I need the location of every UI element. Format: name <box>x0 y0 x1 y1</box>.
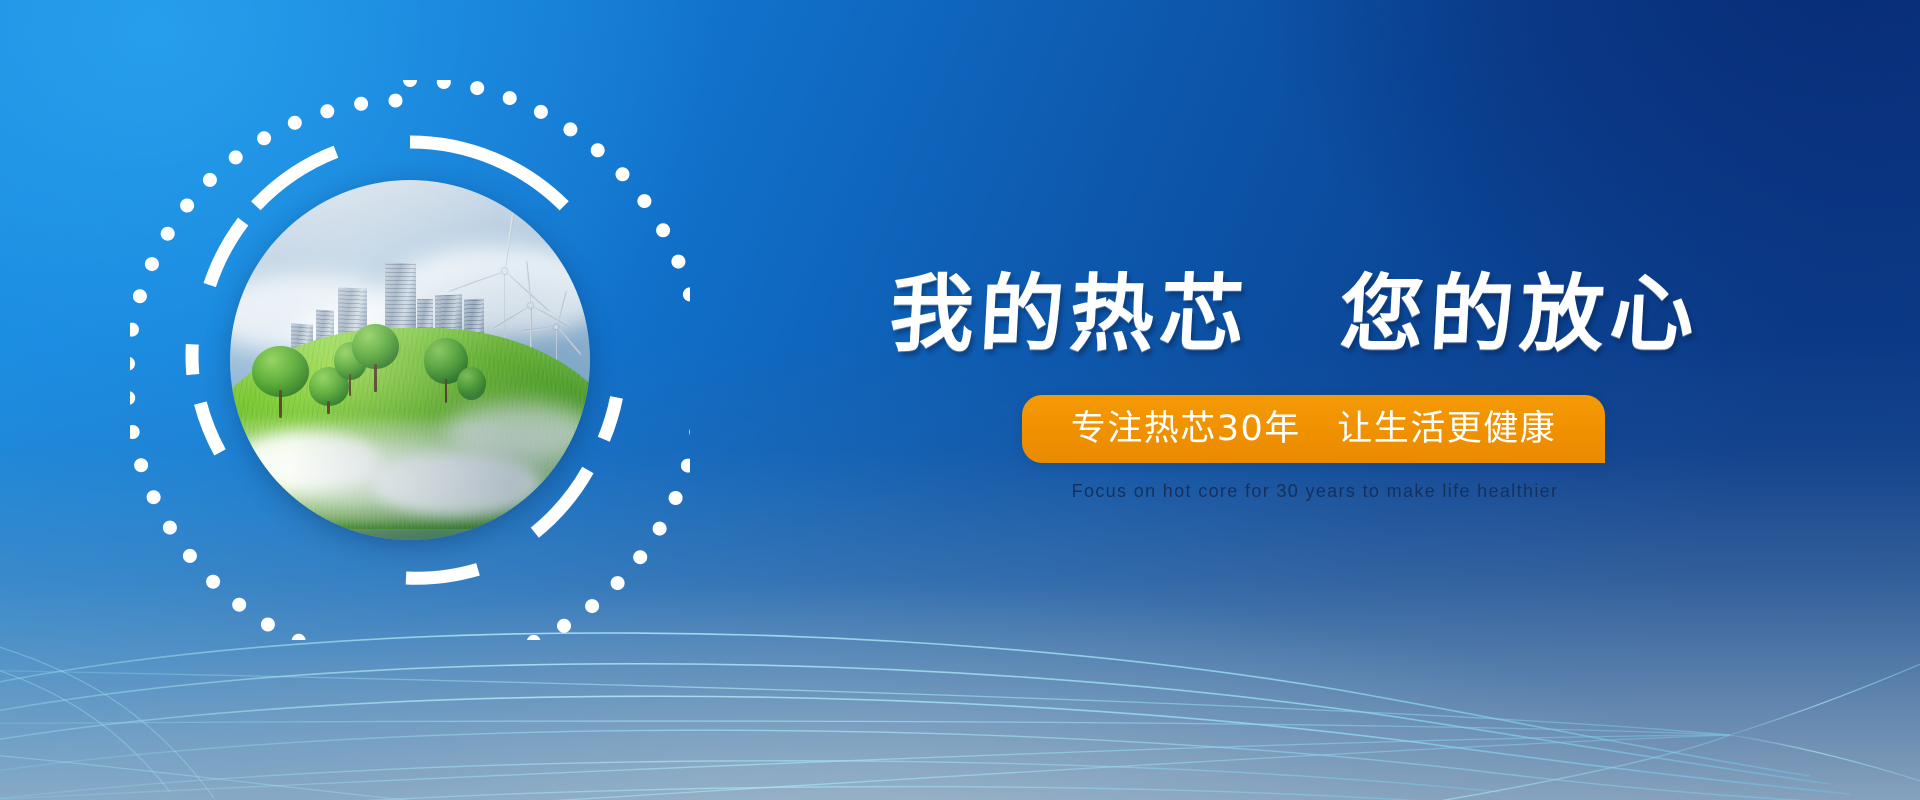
status-badge-label: 专注热芯30年 让生活更健康 <box>1071 412 1557 447</box>
eco-planet-globe <box>230 180 590 540</box>
hero-banner: 我的热芯 您的放心 专注热芯30年 让生活更健康 Focus on hot co… <box>0 0 1920 800</box>
english-tagline: Focus on hot core for 30 years to make l… <box>1065 482 1565 500</box>
globe-shading <box>230 180 590 540</box>
status-badge: 专注热芯30年 让生活更健康 <box>1022 395 1605 463</box>
page-title: 我的热芯 您的放心 <box>888 272 1702 356</box>
globe-graphic-group <box>130 80 690 640</box>
